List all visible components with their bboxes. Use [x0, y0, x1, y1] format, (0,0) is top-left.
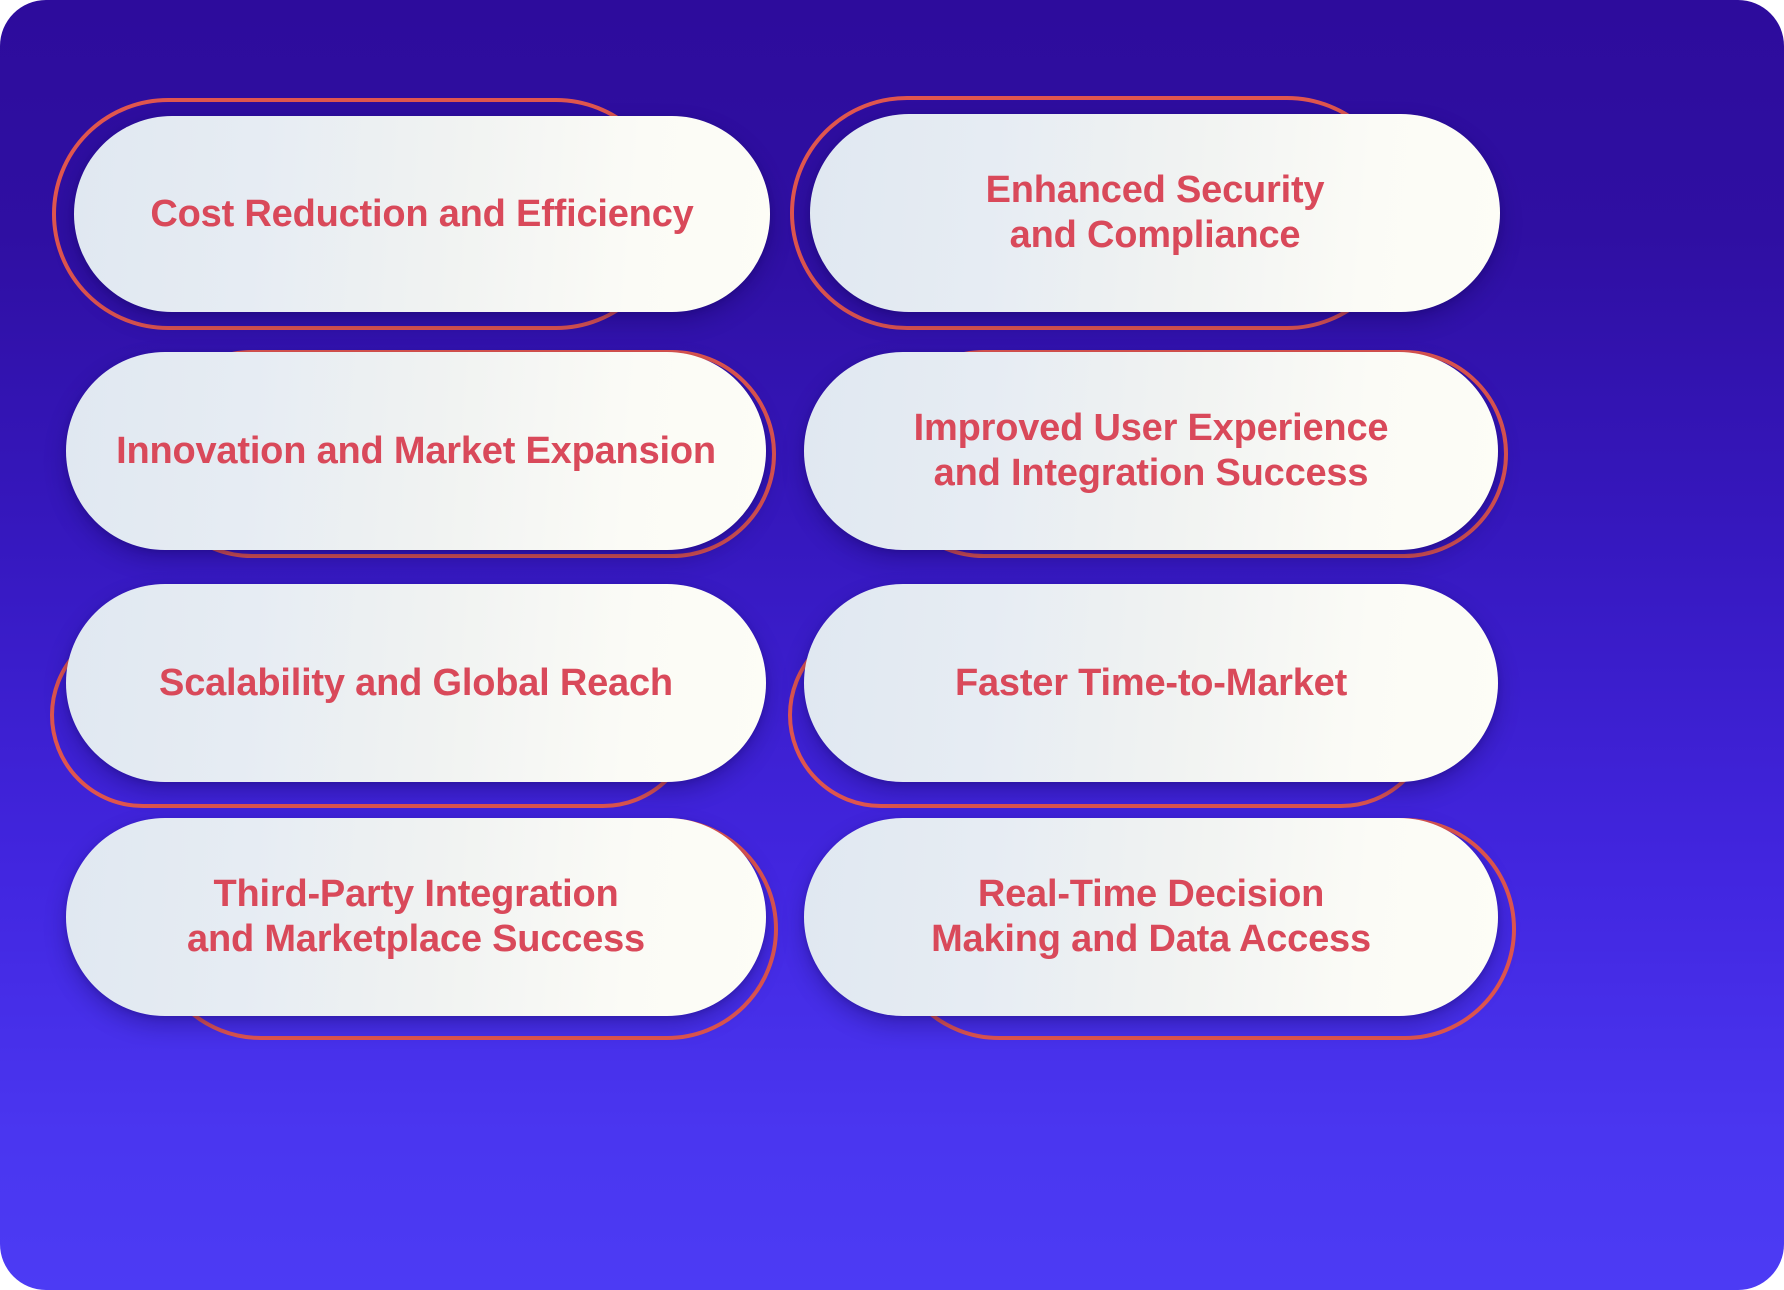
pill-card-enhanced-security-and-compliance[interactable]: Enhanced Security and Compliance — [810, 114, 1500, 312]
pill-card-label: Scalability and Global Reach — [133, 661, 699, 706]
pill-card-grid: Cost Reduction and Efficiency Enhanced S… — [0, 0, 1784, 1290]
pill-card-third-party-integration-and-marketplace-success[interactable]: Third-Party Integration and Marketplace … — [66, 818, 766, 1016]
pill-card-label: Enhanced Security and Compliance — [960, 168, 1351, 258]
pill-card-real-time-decision-making-and-data-access[interactable]: Real-Time Decision Making and Data Acces… — [804, 818, 1498, 1016]
pill-card-faster-time-to-market[interactable]: Faster Time-to-Market — [804, 584, 1498, 782]
diagram-panel: Cost Reduction and Efficiency Enhanced S… — [0, 0, 1784, 1290]
pill-card-label: Innovation and Market Expansion — [90, 429, 742, 474]
pill-card-label: Improved User Experience and Integration… — [888, 406, 1415, 496]
pill-card-label: Cost Reduction and Efficiency — [124, 192, 719, 237]
pill-card-cost-reduction-and-efficiency[interactable]: Cost Reduction and Efficiency — [74, 116, 770, 312]
pill-card-label: Faster Time-to-Market — [929, 661, 1373, 706]
pill-card-label: Real-Time Decision Making and Data Acces… — [905, 872, 1397, 962]
pill-card-label: Third-Party Integration and Marketplace … — [161, 872, 671, 962]
pill-card-innovation-and-market-expansion[interactable]: Innovation and Market Expansion — [66, 352, 766, 550]
pill-card-improved-user-experience-and-integration-success[interactable]: Improved User Experience and Integration… — [804, 352, 1498, 550]
pill-card-scalability-and-global-reach[interactable]: Scalability and Global Reach — [66, 584, 766, 782]
